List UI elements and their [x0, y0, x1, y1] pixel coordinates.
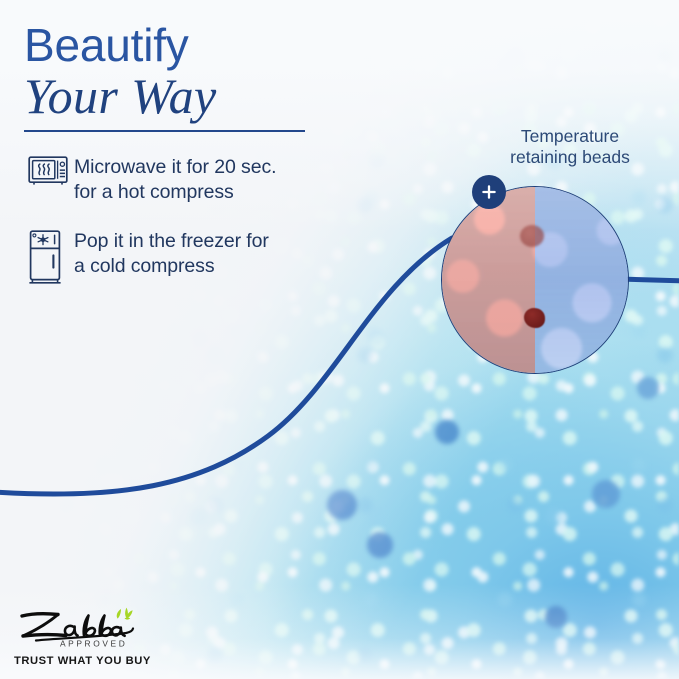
product-infographic: Beautify Your Way: [0, 0, 679, 679]
magnifier-hot-half: [442, 187, 535, 373]
brand-logo: APPROVED TRUST WHAT YOU BUY: [14, 605, 164, 667]
benefit-text-freezer-line1: Pop it in the freezer for: [74, 229, 269, 254]
benefit-item-freezer: Pop it in the freezer for a cold compres…: [28, 228, 358, 278]
plus-icon: [480, 183, 498, 201]
logo-tagline: TRUST WHAT YOU BUY: [14, 655, 164, 667]
benefit-list: Microwave it for 20 sec. for a hot compr…: [28, 154, 358, 302]
magnifier-bead-accent-upper: [520, 225, 544, 247]
plus-badge[interactable]: [472, 175, 506, 209]
freezer-icon: [28, 228, 74, 276]
benefit-item-microwave: Microwave it for 20 sec. for a hot compr…: [28, 154, 358, 204]
benefit-text-freezer-line2: a cold compress: [74, 254, 269, 279]
logo-approved-text: APPROVED: [60, 638, 127, 648]
callout-label-line2: retaining beads: [470, 147, 670, 168]
leaf-sprout-icon: [117, 608, 133, 620]
magnifier-callout-circle: [441, 186, 629, 374]
callout-label: Temperature retaining beads: [470, 126, 670, 169]
callout-label-line1: Temperature: [470, 126, 670, 147]
headline-block: Beautify Your Way: [24, 22, 444, 123]
headline-divider: [24, 130, 305, 132]
magnifier-cold-half: [535, 187, 628, 373]
benefit-text-freezer: Pop it in the freezer for a cold compres…: [74, 228, 269, 278]
benefit-text-microwave-line1: Microwave it for 20 sec.: [74, 155, 276, 180]
zabba-wordmark: APPROVED: [14, 605, 142, 649]
benefit-text-microwave: Microwave it for 20 sec. for a hot compr…: [74, 154, 276, 204]
microwave-icon: [28, 154, 74, 202]
headline-line-1: Beautify: [24, 22, 444, 68]
magnifier-bead-accent-lower: [524, 308, 545, 328]
benefit-text-microwave-line2: for a hot compress: [74, 180, 276, 205]
headline-line-2: Your Way: [24, 70, 444, 123]
